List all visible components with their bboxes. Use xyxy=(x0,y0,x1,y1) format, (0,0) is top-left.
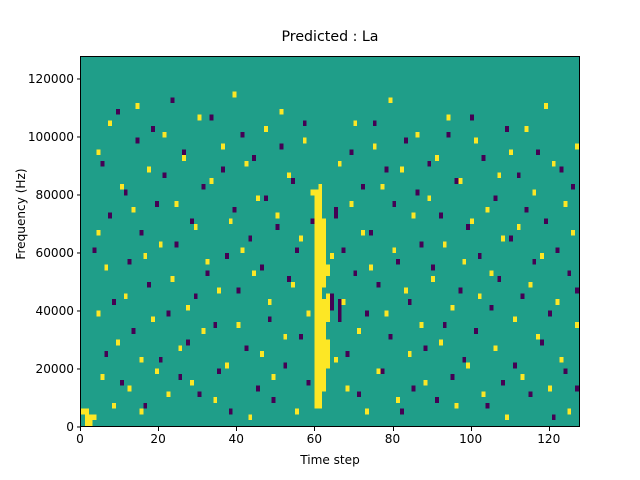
y-tick-label: 20000 xyxy=(0,362,74,376)
figure-canvas: Predicted : La 0200004000060000800001000… xyxy=(0,0,640,480)
x-tick-mark xyxy=(158,427,159,431)
y-tick-mark xyxy=(77,253,81,254)
page-title: Predicted : La xyxy=(80,29,580,45)
y-tick-label: 80000 xyxy=(0,188,74,202)
y-tick-mark xyxy=(77,369,81,370)
x-tick-mark xyxy=(393,427,394,431)
y-tick-mark xyxy=(77,137,81,138)
y-tick-mark xyxy=(77,311,81,312)
y-tick-label: 100000 xyxy=(0,130,74,144)
x-tick-label: 120 xyxy=(519,432,579,446)
x-tick-mark xyxy=(80,427,81,431)
x-tick-label: 60 xyxy=(284,432,344,446)
heatmap-image xyxy=(81,57,579,426)
x-axis-label: Time step xyxy=(80,453,580,467)
y-axis-label: Frequency (Hz) xyxy=(14,94,28,334)
y-tick-mark xyxy=(77,79,81,80)
y-tick-mark xyxy=(77,195,81,196)
y-tick-label: 40000 xyxy=(0,304,74,318)
x-tick-label: 40 xyxy=(206,432,266,446)
y-tick-label: 60000 xyxy=(0,246,74,260)
x-tick-mark xyxy=(549,427,550,431)
y-tick-label: 120000 xyxy=(0,72,74,86)
x-tick-label: 0 xyxy=(50,432,110,446)
x-tick-mark xyxy=(236,427,237,431)
x-tick-mark xyxy=(314,427,315,431)
x-tick-label: 20 xyxy=(128,432,188,446)
heatmap-axes[interactable] xyxy=(80,56,580,427)
x-tick-mark xyxy=(471,427,472,431)
x-tick-label: 80 xyxy=(363,432,423,446)
x-tick-label: 100 xyxy=(441,432,501,446)
